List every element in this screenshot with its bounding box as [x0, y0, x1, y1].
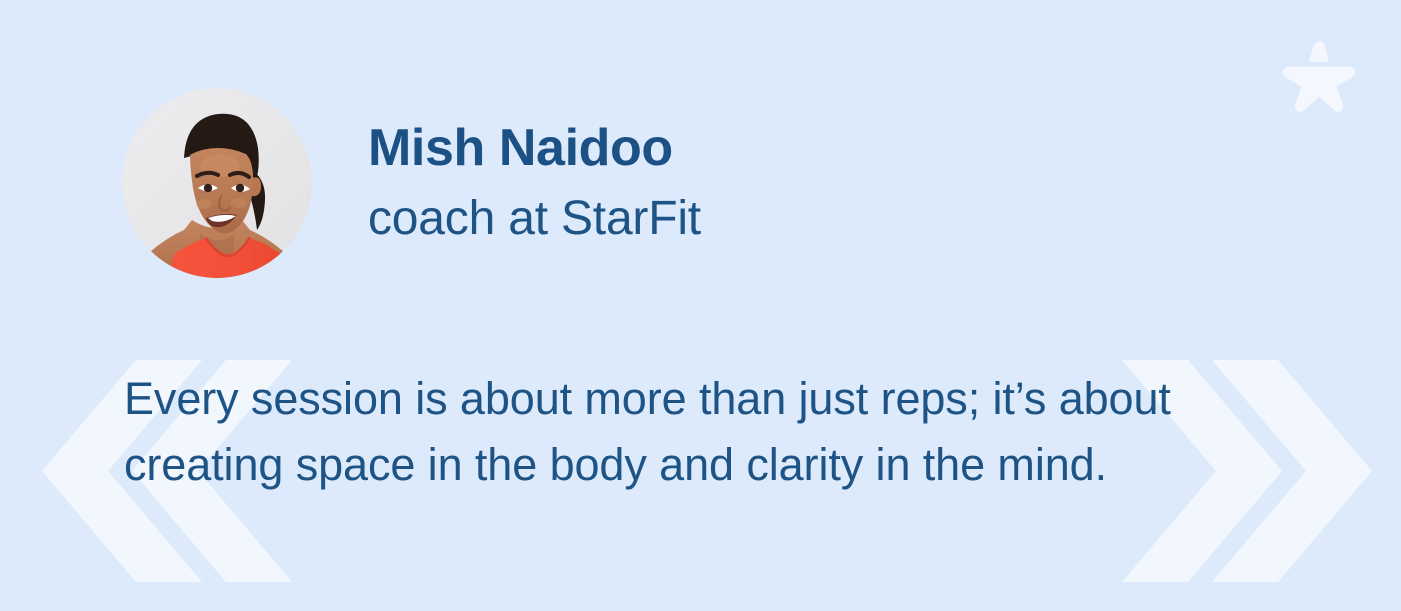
quote-line-2: creating space in the body and clarity i… [124, 432, 1174, 498]
quote-line-1: Every session is about more than just re… [124, 366, 1174, 432]
identity-block: Mish Naidoo coach at StarFit [368, 121, 701, 246]
star-icon [1272, 33, 1366, 127]
person-name: Mish Naidoo [368, 121, 701, 176]
avatar [122, 88, 312, 278]
person-role: coach at StarFit [368, 193, 701, 246]
quote-block: Every session is about more than just re… [124, 366, 1174, 498]
testimonial-card: Mish Naidoo coach at StarFit Every sessi… [0, 0, 1401, 611]
profile-header: Mish Naidoo coach at StarFit [122, 88, 701, 278]
